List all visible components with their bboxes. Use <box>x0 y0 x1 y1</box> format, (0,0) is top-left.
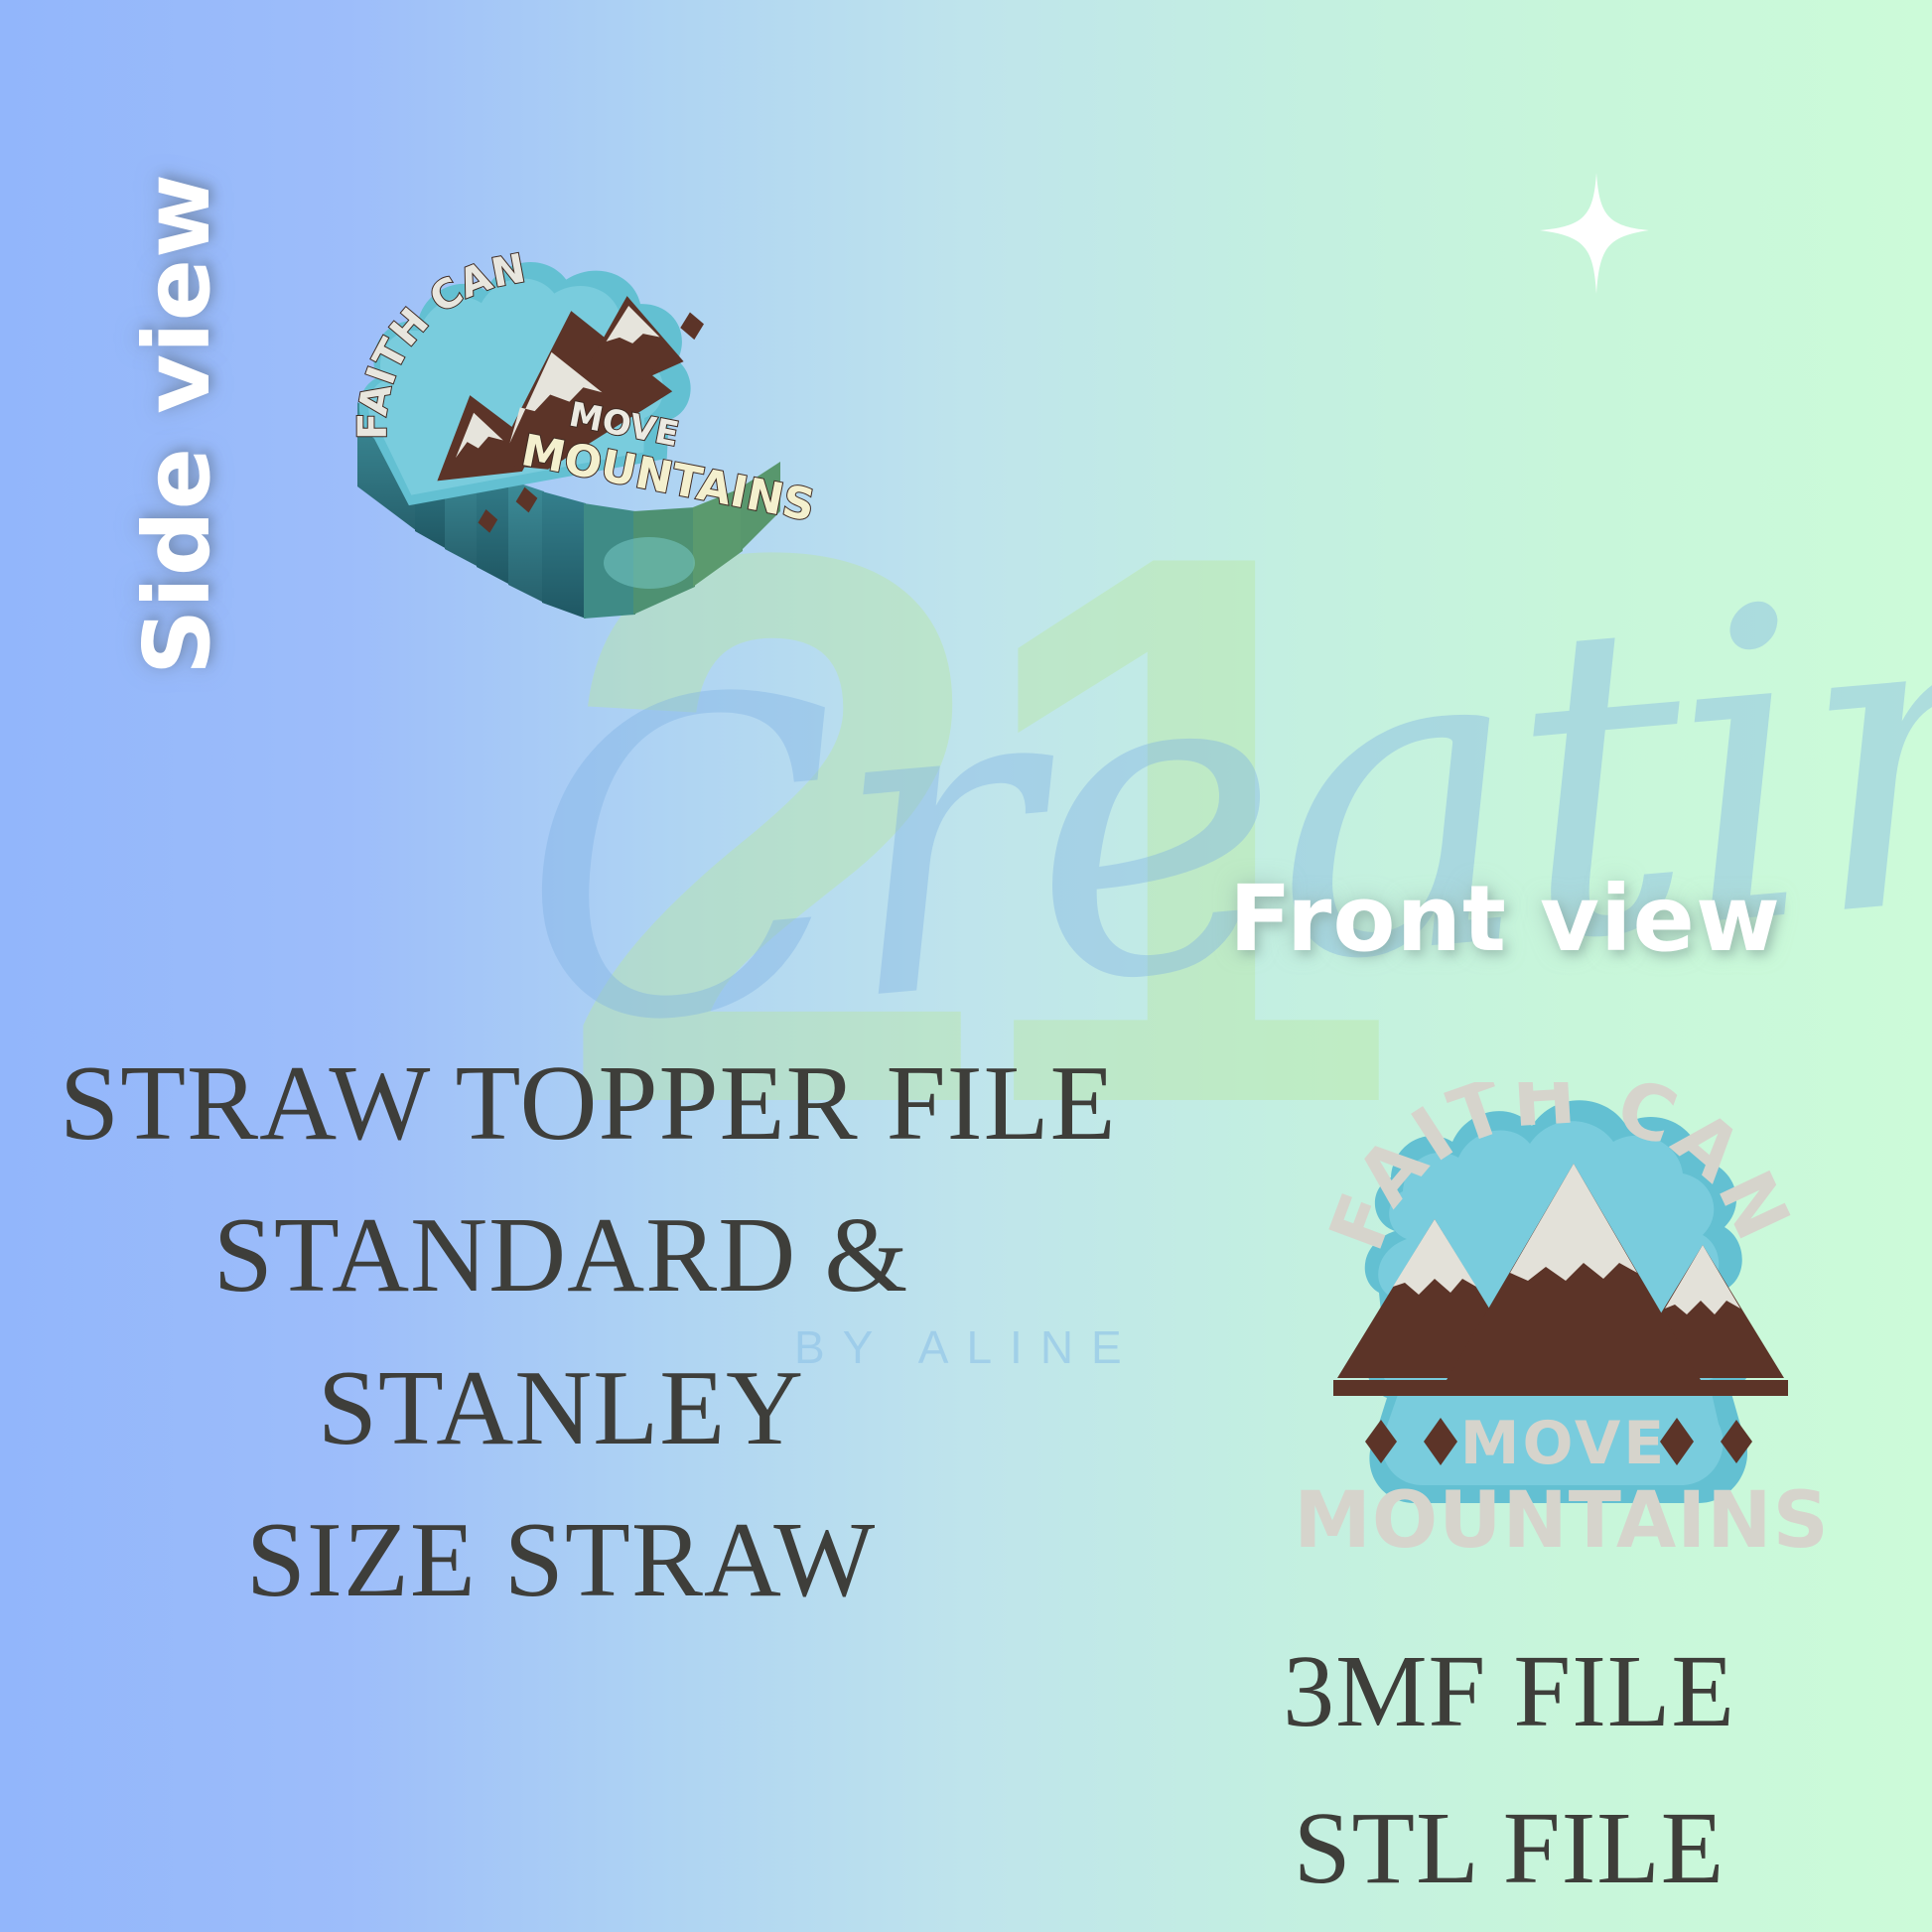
copy-line: STL FILE <box>1231 1770 1787 1927</box>
front-view-3d-render: FAITH CAN MOVE MOUNTAINS <box>1276 1082 1852 1579</box>
straw-hole <box>604 537 695 589</box>
side-view-label: Side view <box>124 179 230 675</box>
product-listing-canvas: 21 Creatings BY ALINE Side view <box>0 0 1932 1932</box>
copy-line: 3MF FILE <box>1231 1613 1787 1770</box>
badge-move-text: MOVE <box>1460 1409 1668 1478</box>
product-description-left: STRAW TOPPER FILE STANDARD & STANLEY SIZ… <box>60 1028 1062 1636</box>
four-point-star-sparkle-icon <box>1534 169 1653 298</box>
copy-line: SIZE STRAW <box>60 1484 1062 1636</box>
copy-line: STRAW TOPPER FILE <box>60 1028 1062 1179</box>
copy-line: STANDARD & <box>60 1179 1062 1331</box>
side-view-3d-render: FAITH CAN MOVE MOUNTAINS <box>298 213 854 630</box>
file-formats-right: 3MF FILE STL FILE <box>1231 1613 1787 1927</box>
copy-line: STANLEY <box>60 1332 1062 1484</box>
badge-mountains-text: MOUNTAINS <box>1294 1476 1830 1566</box>
front-view-label: Front view <box>1229 866 1781 972</box>
